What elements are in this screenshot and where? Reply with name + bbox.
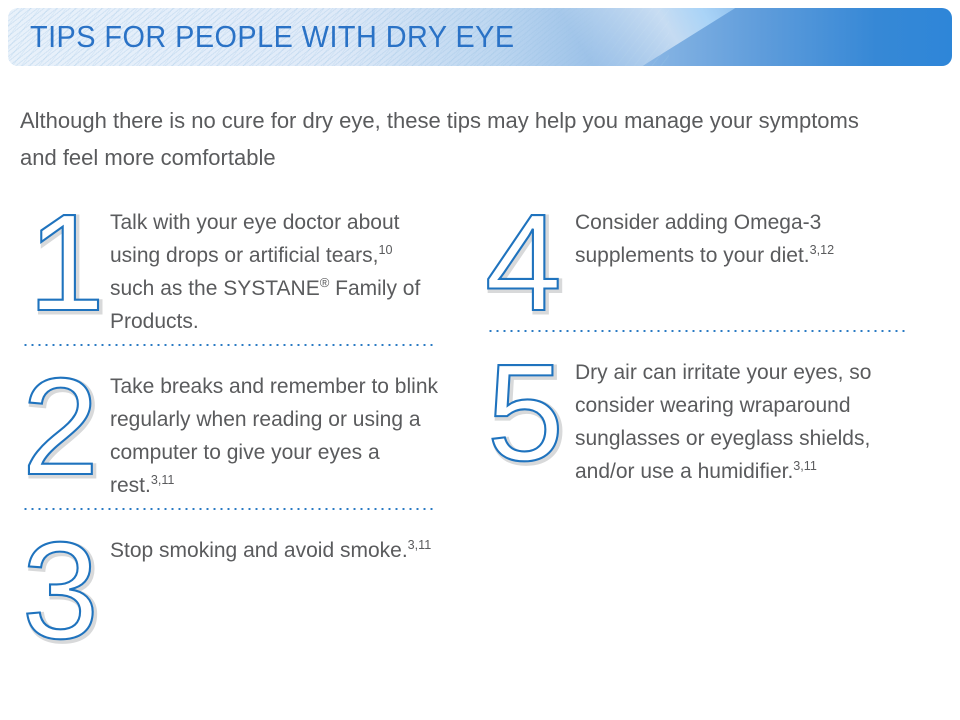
tip-text-5: Dry air can irritate your eyes, so consi… bbox=[575, 346, 923, 488]
intro-paragraph: Although there is no cure for dry eye, t… bbox=[20, 102, 900, 176]
tips-column-right: 4 4 4 Consider adding Omega-3 supplement… bbox=[483, 196, 923, 488]
tip-item-4: 4 4 4 Consider adding Omega-3 supplement… bbox=[483, 196, 923, 324]
tip-item-2: 2 2 2 Take breaks and remember to blink … bbox=[18, 360, 438, 502]
tip-numeral-5: 5 5 5 bbox=[483, 342, 575, 474]
tip-text-1: Talk with your eye doctor about using dr… bbox=[110, 196, 438, 338]
tip-numeral-2: 2 2 2 bbox=[18, 356, 110, 488]
tip-item-3: 3 3 3 Stop smoking and avoid smoke.3,11 bbox=[18, 524, 438, 652]
separator-left-1 bbox=[22, 344, 434, 346]
tip-text-2: Take breaks and remember to blink regula… bbox=[110, 360, 438, 502]
tip-item-1: 1 1 1 Talk with your eye doctor about us… bbox=[18, 196, 438, 338]
tip-item-5: 5 5 5 Dry air can irritate your eyes, so… bbox=[483, 346, 923, 488]
numeral-3-outline: 3 bbox=[22, 514, 99, 668]
numeral-2-outline: 2 bbox=[22, 350, 99, 504]
tip-numeral-3: 3 3 3 bbox=[18, 520, 110, 652]
tip-numeral-1: 1 1 1 bbox=[18, 192, 110, 324]
numeral-4-outline: 4 bbox=[485, 186, 562, 340]
tip-text-3: Stop smoking and avoid smoke.3,11 bbox=[110, 524, 438, 567]
tip-text-4: Consider adding Omega-3 supplements to y… bbox=[575, 196, 923, 272]
header-band: TIPS FOR PEOPLE WITH DRY EYE bbox=[8, 8, 952, 66]
tip-numeral-4: 4 4 4 bbox=[483, 192, 575, 324]
tips-column-left: 1 1 1 Talk with your eye doctor about us… bbox=[18, 196, 438, 652]
separator-left-2 bbox=[22, 508, 434, 510]
page-title: TIPS FOR PEOPLE WITH DRY EYE bbox=[30, 19, 515, 55]
numeral-1-outline: 1 bbox=[28, 186, 105, 340]
numeral-5-outline: 5 bbox=[487, 336, 564, 490]
